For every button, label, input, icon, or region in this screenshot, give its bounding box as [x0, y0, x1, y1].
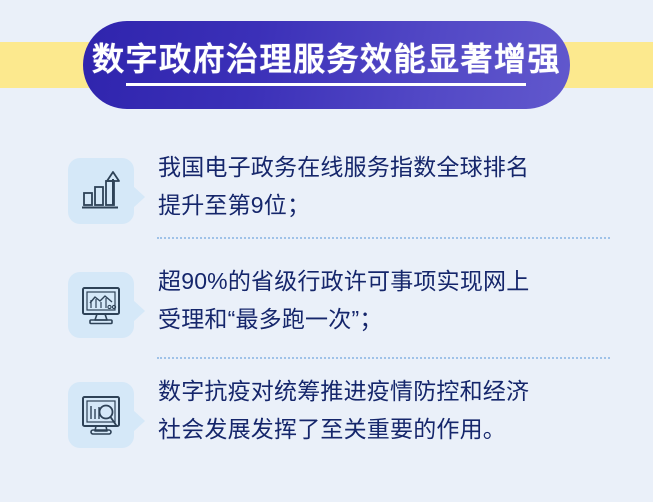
- icon-wrapper: [68, 158, 134, 224]
- bar-chart-growth-arrow-icon: [68, 158, 134, 224]
- icon-bubble-tail: [133, 186, 145, 208]
- icon-bubble-tail: [133, 410, 145, 432]
- list-item-line-2: 提升至第9位；: [158, 186, 653, 224]
- list-item-line-2: 受理和“最多跑一次”；: [158, 300, 653, 338]
- list-item-line-1: 超90%的省级行政许可事项实现网上: [158, 262, 653, 300]
- list-item: 超90%的省级行政许可事项实现网上 受理和“最多跑一次”；: [0, 260, 653, 372]
- icon-wrapper: [68, 382, 134, 448]
- icon-bubble-tail: [133, 300, 145, 322]
- monitor-line-chart-icon: [68, 272, 134, 338]
- icon-wrapper: [68, 272, 134, 338]
- list-item-line-2: 社会发展发挥了至关重要的作用。: [158, 410, 653, 448]
- title-inner: 数字政府治理服务效能显著增强: [92, 43, 561, 86]
- monitor-bar-chart-magnifier-icon: [68, 382, 134, 448]
- divider: [157, 357, 610, 361]
- title-underline: [126, 83, 526, 86]
- list-item-text: 我国电子政务在线服务指数全球排名 提升至第9位；: [158, 146, 653, 224]
- list-item: 我国电子政务在线服务指数全球排名 提升至第9位；: [0, 146, 653, 258]
- list-item-text: 超90%的省级行政许可事项实现网上 受理和“最多跑一次”；: [158, 260, 653, 338]
- title-pill: 数字政府治理服务效能显著增强: [83, 21, 570, 109]
- list-item: 数字抗疫对统筹推进疫情防控和经济 社会发展发挥了至关重要的作用。: [0, 370, 653, 482]
- header-banner: 数字政府治理服务效能显著增强: [0, 0, 653, 120]
- content-list: 我国电子政务在线服务指数全球排名 提升至第9位；: [0, 120, 653, 502]
- list-item-line-1: 数字抗疫对统筹推进疫情防控和经济: [158, 372, 653, 410]
- list-item-line-1: 我国电子政务在线服务指数全球排名: [158, 148, 653, 186]
- page-title: 数字政府治理服务效能显著增强: [92, 43, 561, 75]
- divider: [157, 237, 610, 241]
- list-item-text: 数字抗疫对统筹推进疫情防控和经济 社会发展发挥了至关重要的作用。: [158, 370, 653, 448]
